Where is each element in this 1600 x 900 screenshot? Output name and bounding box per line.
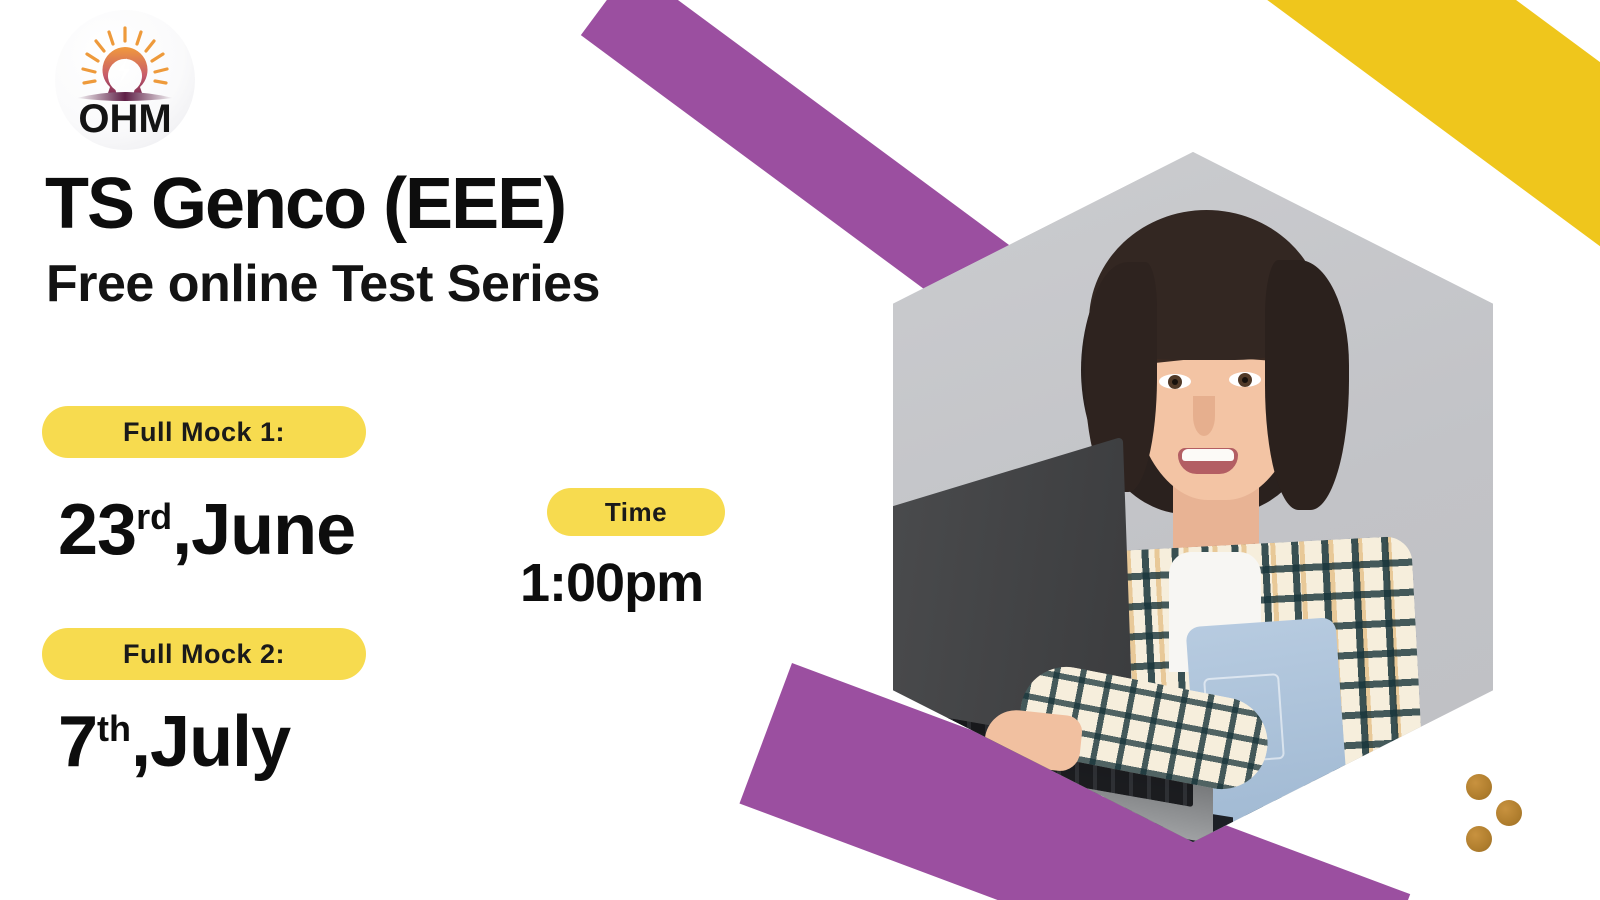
mock2-day: 7 xyxy=(58,702,97,782)
badge-full-mock-2: Full Mock 2: xyxy=(42,628,366,680)
gold-dot-3 xyxy=(1466,826,1492,852)
eye-left xyxy=(1159,374,1191,389)
mouth xyxy=(1178,448,1238,474)
hair-right xyxy=(1265,260,1349,510)
mock1-day: 23 xyxy=(58,490,136,570)
nose xyxy=(1193,396,1215,436)
ohm-sun-bulb-icon: OHM xyxy=(65,20,185,140)
poster-canvas: OHM TS Genco (EEE) Free online Test Seri… xyxy=(0,0,1600,900)
badge-time: Time xyxy=(547,488,725,536)
mock1-suffix: rd xyxy=(136,496,172,537)
date-full-mock-1: 23rd,June xyxy=(58,494,355,566)
mock2-month: ,July xyxy=(131,702,290,782)
time-value: 1:00pm xyxy=(520,552,703,614)
gold-dot-1 xyxy=(1466,774,1492,800)
mock1-month: ,June xyxy=(172,490,355,570)
gold-dot-2 xyxy=(1496,800,1522,826)
page-subtitle: Free online Test Series xyxy=(46,258,600,310)
logo-wordmark: OHM xyxy=(78,97,171,140)
eye-right xyxy=(1229,372,1261,387)
mock2-suffix: th xyxy=(97,708,131,749)
ohm-logo[interactable]: OHM xyxy=(55,10,195,150)
badge-full-mock-1: Full Mock 1: xyxy=(42,406,366,458)
date-full-mock-2: 7th,July xyxy=(58,706,290,778)
page-title: TS Genco (EEE) xyxy=(45,168,565,240)
